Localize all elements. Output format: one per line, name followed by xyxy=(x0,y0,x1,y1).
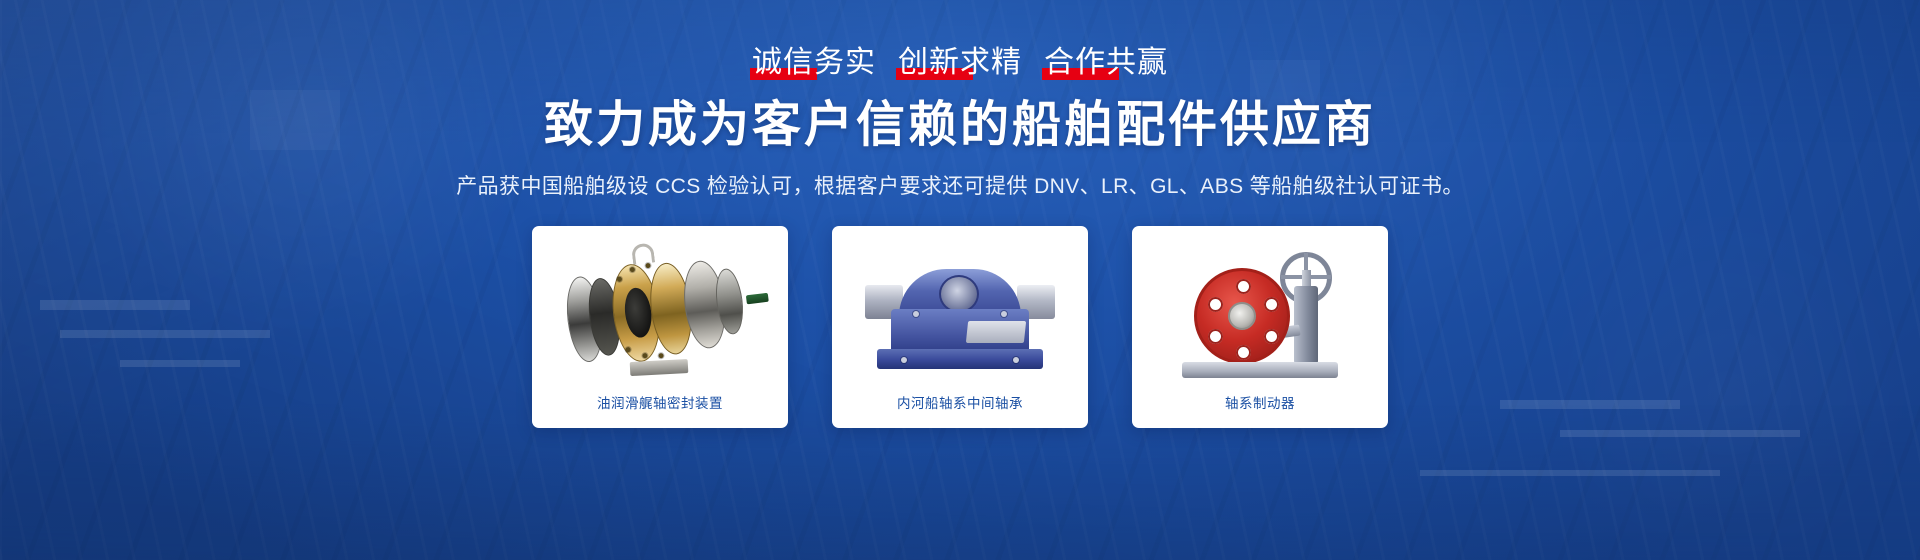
stern-tube-oil-seal-photo xyxy=(542,236,778,384)
product-card[interactable]: 轴系制动器 xyxy=(1132,226,1388,428)
hero-banner: 诚信务实 创新求精 合作共赢 致力成为客户信赖的船舶配件供应商 产品获中国船舶级… xyxy=(0,0,1920,560)
banner-subheadline: 产品获中国船舶级设 CCS 检验认可，根据客户要求还可提供 DNV、LR、GL、… xyxy=(456,170,1464,200)
slogan-segment-1: 诚信务实 xyxy=(750,48,878,78)
product-card[interactable]: 油润滑艉轴密封装置 xyxy=(532,226,788,428)
product-card-label: 轴系制动器 xyxy=(1225,392,1295,412)
banner-slogan: 诚信务实 创新求精 合作共赢 xyxy=(750,48,1170,78)
product-card-label: 油润滑艉轴密封装置 xyxy=(597,392,723,412)
product-card-label: 内河船轴系中间轴承 xyxy=(897,392,1023,412)
lifting-hook-detail xyxy=(631,243,655,266)
shaft-brake-photo xyxy=(1142,236,1378,384)
banner-content: 诚信务实 创新求精 合作共赢 致力成为客户信赖的船舶配件供应商 产品获中国船舶级… xyxy=(0,0,1920,560)
slogan-segment-3: 合作共赢 xyxy=(1042,48,1170,78)
slogan-segment-2: 创新求精 xyxy=(896,48,1024,78)
product-card-list: 油润滑艉轴密封装置 xyxy=(532,226,1388,428)
banner-headline: 致力成为客户信赖的船舶配件供应商 xyxy=(544,100,1376,151)
product-card[interactable]: 内河船轴系中间轴承 xyxy=(832,226,1088,428)
inland-vessel-intermediate-bearing-photo xyxy=(842,236,1078,384)
